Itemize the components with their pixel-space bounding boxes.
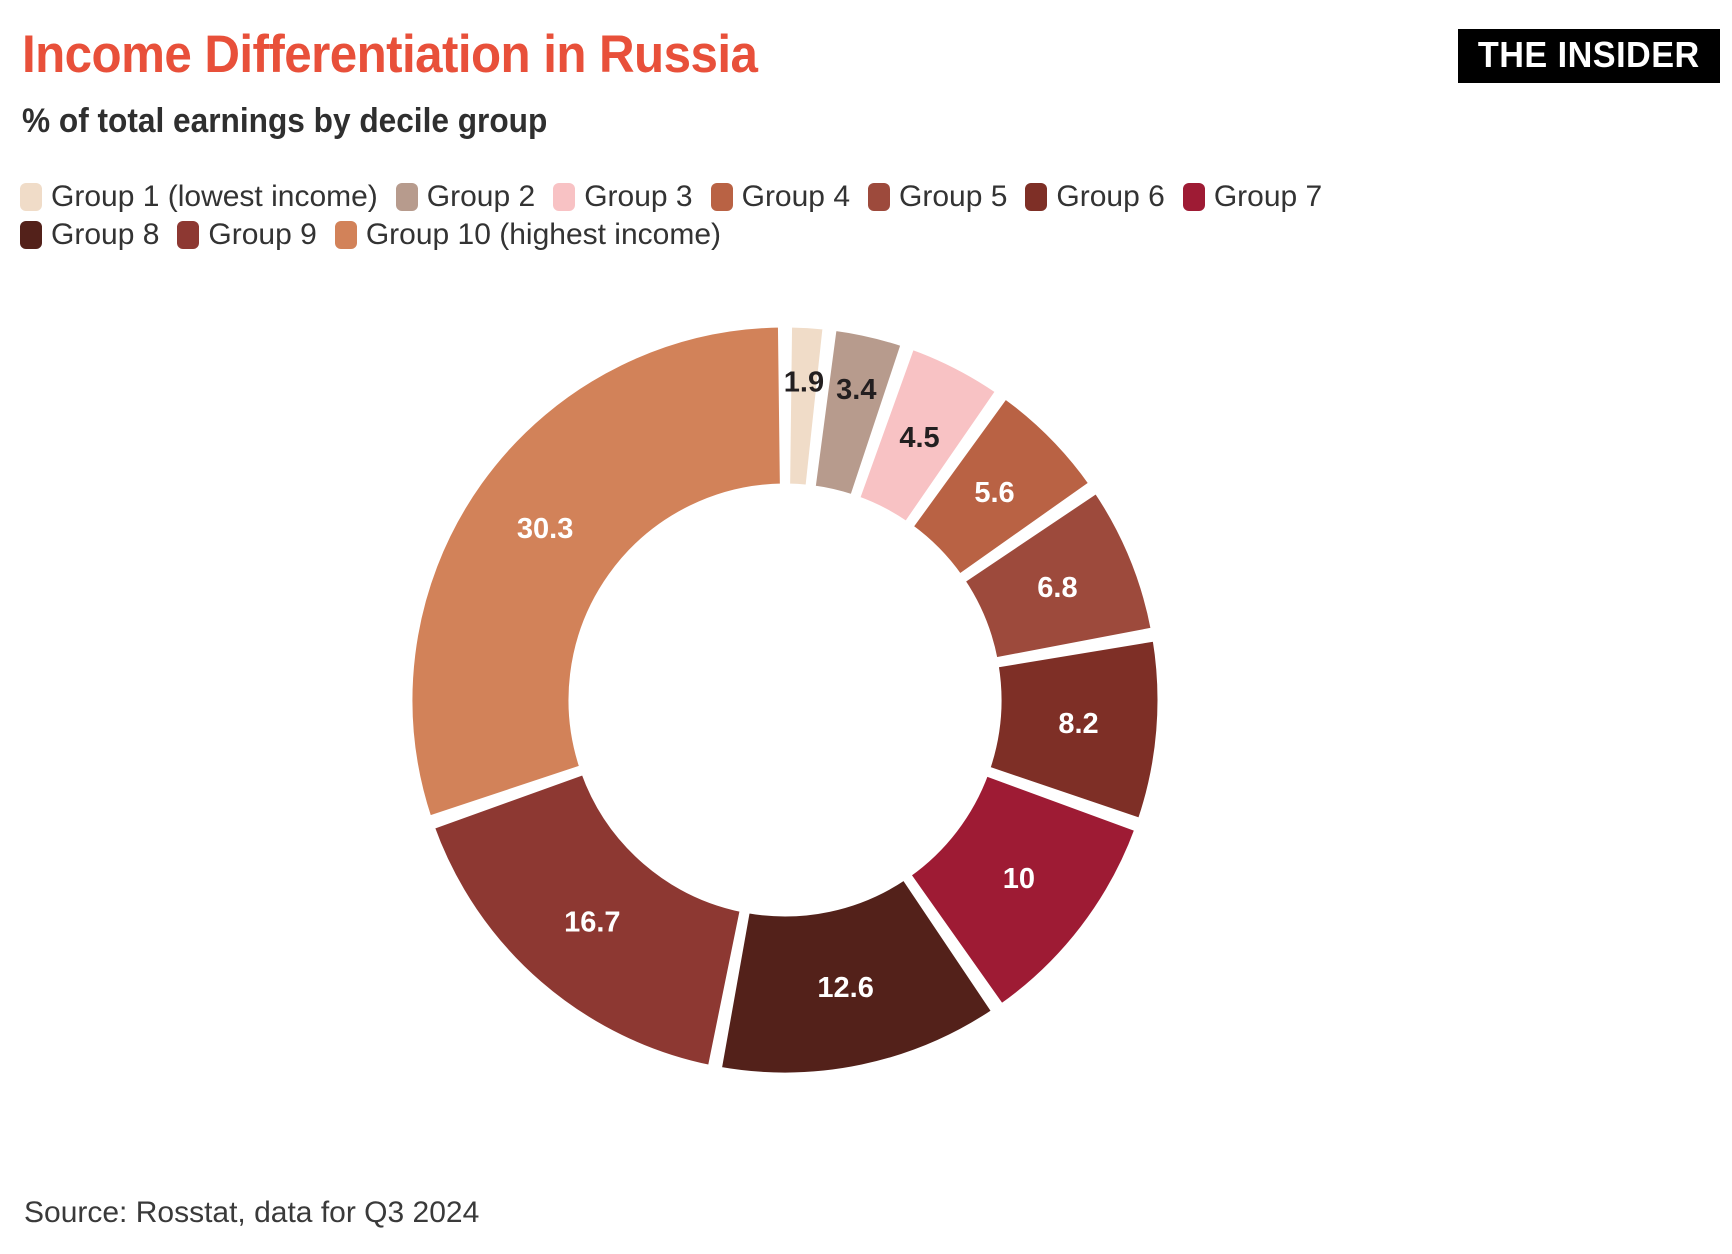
slice-value-label: 16.7 xyxy=(564,907,620,939)
slice-value-label: 6.8 xyxy=(1037,572,1077,604)
legend-swatch-icon xyxy=(868,183,890,211)
legend-swatch-icon xyxy=(396,183,418,211)
legend-item[interactable]: Group 9 xyxy=(177,220,316,250)
source-note: Source: Rosstat, data for Q3 2024 xyxy=(24,1196,479,1230)
legend-swatch-icon xyxy=(711,183,733,211)
slice-value-label: 8.2 xyxy=(1058,708,1098,740)
legend-item-label: Group 1 (lowest income) xyxy=(51,182,378,212)
legend-swatch-icon xyxy=(20,221,42,249)
legend-item-label: Group 3 xyxy=(584,182,692,212)
legend-item-label: Group 7 xyxy=(1214,182,1322,212)
legend-swatch-icon xyxy=(20,183,42,211)
legend-swatch-icon xyxy=(1183,183,1205,211)
legend-item[interactable]: Group 8 xyxy=(20,220,159,250)
page-title: Income Differentiation in Russia xyxy=(22,24,757,85)
slice-value-label: 12.6 xyxy=(817,972,873,1004)
chart-header: Income Differentiation in Russia % of to… xyxy=(0,0,1732,160)
slice-value-label: 3.4 xyxy=(836,374,876,406)
legend-row: Group 8Group 9Group 10 (highest income) xyxy=(20,216,1520,254)
donut-chart: 1.93.44.55.66.88.21012.616.730.3 xyxy=(0,285,1732,1085)
legend-item[interactable]: Group 6 xyxy=(1025,182,1164,212)
slice-value-label: 10 xyxy=(1003,863,1035,895)
legend-row: Group 1 (lowest income)Group 2Group 3Gro… xyxy=(20,178,1520,216)
legend-item[interactable]: Group 3 xyxy=(553,182,692,212)
chart-legend: Group 1 (lowest income)Group 2Group 3Gro… xyxy=(20,178,1520,254)
legend-item[interactable]: Group 5 xyxy=(868,182,1007,212)
slice-value-label: 30.3 xyxy=(517,513,573,545)
legend-item[interactable]: Group 4 xyxy=(711,182,850,212)
donut-chart-svg: 1.93.44.55.66.88.21012.616.730.3 xyxy=(0,285,1732,1085)
legend-item[interactable]: Group 2 xyxy=(396,182,535,212)
legend-swatch-icon xyxy=(177,221,199,249)
legend-item[interactable]: Group 1 (lowest income) xyxy=(20,182,378,212)
legend-swatch-icon xyxy=(553,183,575,211)
donut-slice[interactable] xyxy=(410,325,782,818)
legend-item[interactable]: Group 7 xyxy=(1183,182,1322,212)
legend-item-label: Group 9 xyxy=(208,220,316,250)
slice-value-label: 4.5 xyxy=(899,422,939,454)
legend-item-label: Group 10 (highest income) xyxy=(366,220,721,250)
legend-item-label: Group 8 xyxy=(51,220,159,250)
brand-logo-text: THE INSIDER xyxy=(1478,37,1700,73)
legend-swatch-icon xyxy=(335,221,357,249)
the-insider-logo: THE INSIDER xyxy=(1458,29,1720,83)
slice-value-label: 1.9 xyxy=(784,367,824,399)
legend-item-label: Group 5 xyxy=(899,182,1007,212)
slice-value-label: 5.6 xyxy=(974,477,1014,509)
legend-item[interactable]: Group 10 (highest income) xyxy=(335,220,721,250)
legend-item-label: Group 2 xyxy=(427,182,535,212)
legend-swatch-icon xyxy=(1025,183,1047,211)
legend-item-label: Group 4 xyxy=(742,182,850,212)
chart-subtitle: % of total earnings by decile group xyxy=(22,102,547,141)
legend-item-label: Group 6 xyxy=(1056,182,1164,212)
